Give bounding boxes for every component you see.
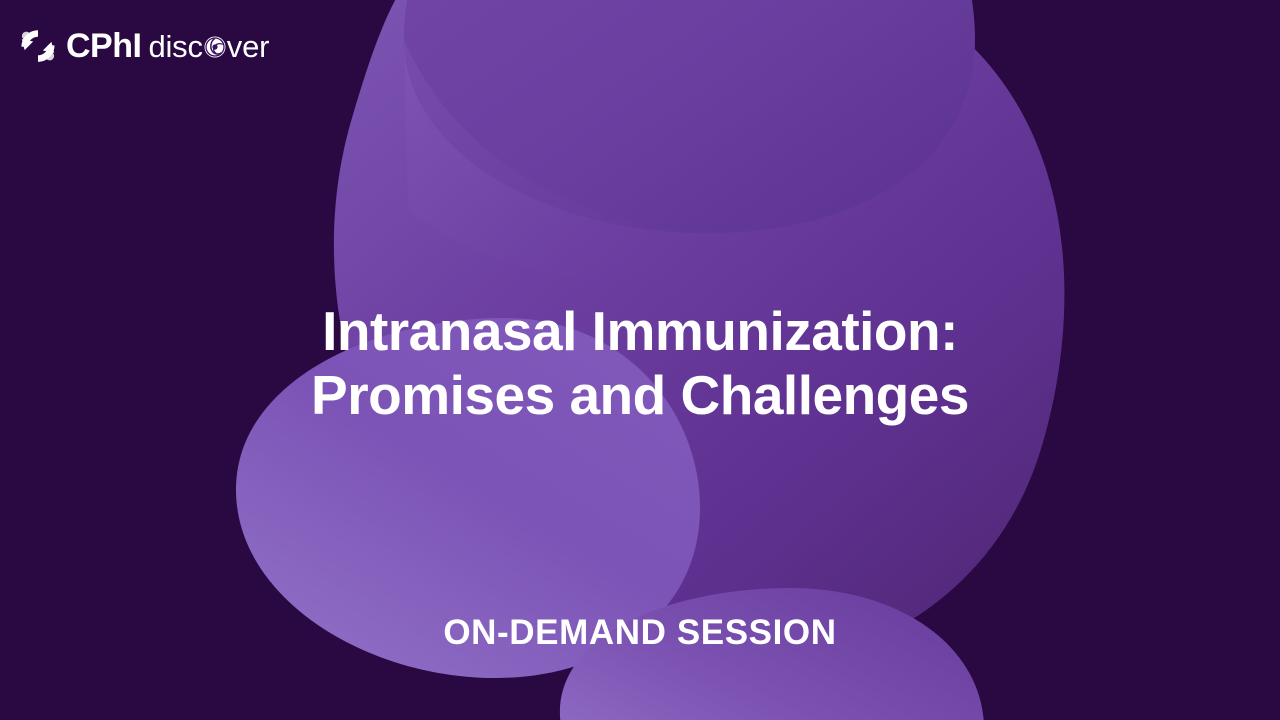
slide-title-line-1: Intranasal Immunization: (60, 299, 1220, 363)
logo-text-ver: ver (227, 31, 269, 62)
presentation-slide: CPhI disc ver Intranasal Immunization: P… (0, 0, 1280, 720)
blob-bottom-orb (560, 588, 984, 720)
logo-text-disc: disc (148, 31, 202, 62)
blob-top-circle (404, 0, 975, 233)
logo-wordmark: CPhI disc ver (66, 29, 269, 63)
cphi-discover-logo: CPhI disc ver (16, 24, 269, 68)
cphi-refresh-circle-icon (16, 24, 60, 68)
session-type-label: ON-DEMAND SESSION (0, 613, 1280, 653)
logo-text-cphi: CPhI (66, 29, 141, 63)
globe-icon (203, 35, 227, 64)
slide-title: Intranasal Immunization: Promises and Ch… (0, 299, 1280, 428)
slide-title-line-2: Promises and Challenges (60, 363, 1220, 427)
blob-overlap-shade (404, 40, 800, 281)
